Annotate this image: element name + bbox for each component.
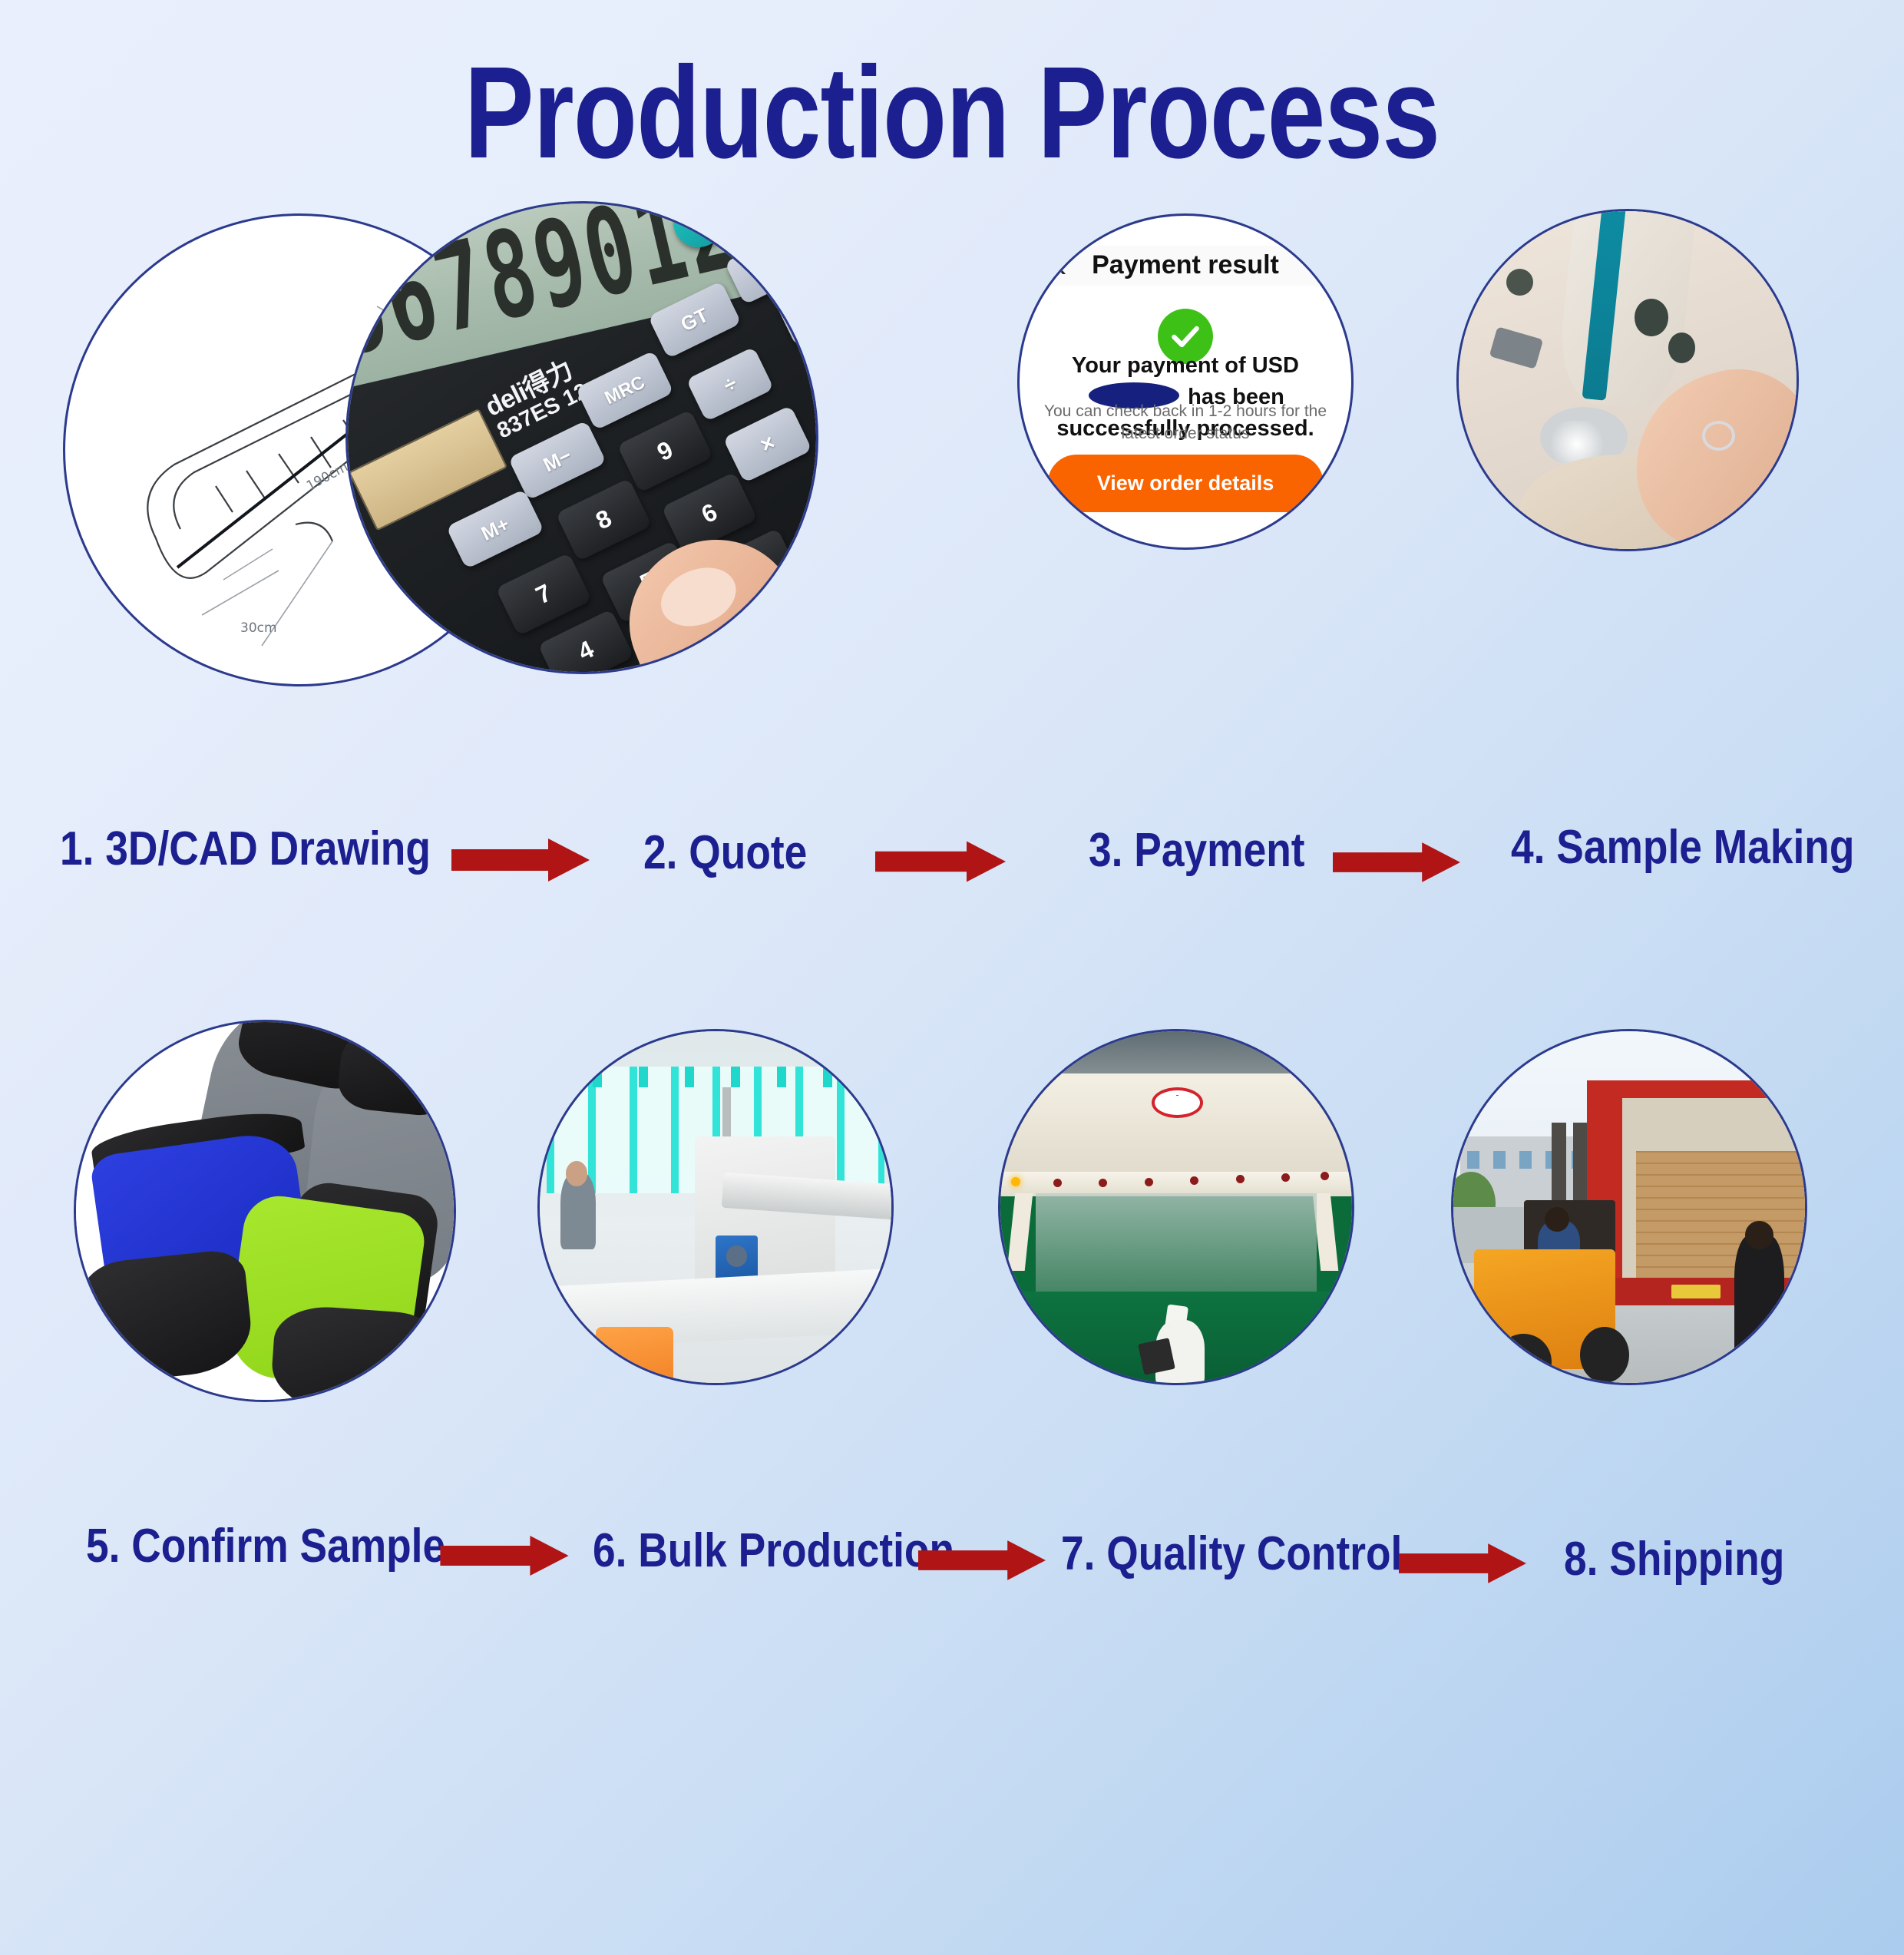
calculator-key-divide[interactable]: ÷ bbox=[686, 346, 775, 422]
calculator-key-7[interactable]: 7 bbox=[495, 552, 591, 636]
step-label-8: 8. Shipping bbox=[1564, 1532, 1784, 1586]
calculator-key-multiply[interactable]: × bbox=[723, 405, 813, 483]
calculator-key-9[interactable]: 9 bbox=[617, 409, 713, 493]
calculator-key-m-plus[interactable]: M+ bbox=[447, 489, 546, 570]
infographic-page: Production Process bbox=[0, 0, 1904, 1955]
flow-arrow-5 bbox=[918, 1540, 1046, 1580]
back-chevron-icon[interactable]: ‹ bbox=[1056, 247, 1067, 284]
step-label-7: 7. Quality Control bbox=[1061, 1527, 1402, 1581]
payment-sub-message: You can check back in 1-2 hours for the … bbox=[1033, 400, 1337, 445]
step-label-1: 1. 3D/CAD Drawing bbox=[60, 822, 431, 876]
ring-on-finger bbox=[1702, 421, 1735, 451]
calculator-key-8[interactable]: 8 bbox=[556, 478, 652, 561]
flow-arrow-3 bbox=[1333, 842, 1460, 883]
step-image-payment-result: ‹ Payment result Your payment of USD has… bbox=[1017, 213, 1354, 550]
flow-arrow-6 bbox=[1399, 1543, 1526, 1583]
step-label-3: 3. Payment bbox=[1089, 823, 1305, 878]
view-order-details-button[interactable]: View order details bbox=[1048, 455, 1324, 512]
step-label-6: 6. Bulk Production bbox=[593, 1523, 954, 1578]
flow-arrow-1 bbox=[451, 839, 590, 882]
cad-dim-foot: 30cm bbox=[240, 620, 277, 636]
step-label-5: 5. Confirm Sample bbox=[86, 1519, 445, 1573]
calculator-key-percent[interactable]: % bbox=[813, 331, 818, 404]
step-image-forklift-loading bbox=[1451, 1029, 1807, 1385]
step-image-sewing-machine bbox=[1456, 209, 1799, 551]
step-label-2: 2. Quote bbox=[643, 825, 807, 880]
orange-stool bbox=[596, 1327, 673, 1385]
payment-message-before: Your payment of USD bbox=[1072, 353, 1299, 378]
payment-header-title: Payment result bbox=[1092, 250, 1279, 280]
indicator-light-active bbox=[1011, 1177, 1020, 1186]
flow-arrow-2 bbox=[875, 841, 1006, 882]
warehouse-worker bbox=[1734, 1236, 1783, 1376]
step-image-sleeping-bags bbox=[74, 1020, 456, 1402]
step-label-4: 4. Sample Making bbox=[1511, 820, 1854, 875]
cad-dim-length: 190cm bbox=[304, 459, 351, 494]
flow-arrow-4 bbox=[440, 1536, 569, 1576]
step-image-calculator: MEMORY 123456789012 deli得力 837ES 12DIGIT… bbox=[345, 201, 818, 674]
page-title: Production Process bbox=[190, 48, 1714, 178]
payment-header: ‹ Payment result bbox=[1020, 246, 1351, 286]
step-image-factory-floor bbox=[537, 1029, 894, 1385]
step-image-inspection-machine bbox=[998, 1029, 1354, 1385]
